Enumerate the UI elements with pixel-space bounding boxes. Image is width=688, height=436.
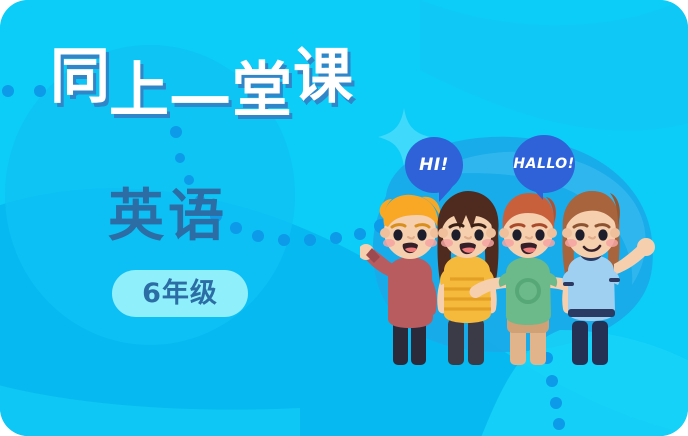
speech-bubble-hi-text: HI! — [419, 155, 449, 175]
child-2 — [437, 191, 498, 365]
speech-bubble-hi: HI! — [405, 137, 463, 193]
speech-bubble-hallo: HALLO! — [513, 135, 575, 193]
speech-bubble-hallo-tail — [527, 181, 543, 200]
course-cover-card: 同 上 一 堂 课 英语 6年级 HI! HALLO! — [0, 0, 688, 436]
grade-badge[interactable]: 6年级 — [112, 270, 248, 317]
children-illustration-svg — [360, 185, 670, 365]
child-1 — [360, 195, 440, 365]
child-4 — [562, 191, 655, 365]
grade-badge-label: 6年级 — [142, 280, 218, 307]
speech-bubble-hi-tail — [439, 183, 455, 202]
speech-bubble-hallo-text: HALLO! — [513, 156, 574, 172]
children-illustration — [360, 185, 670, 365]
